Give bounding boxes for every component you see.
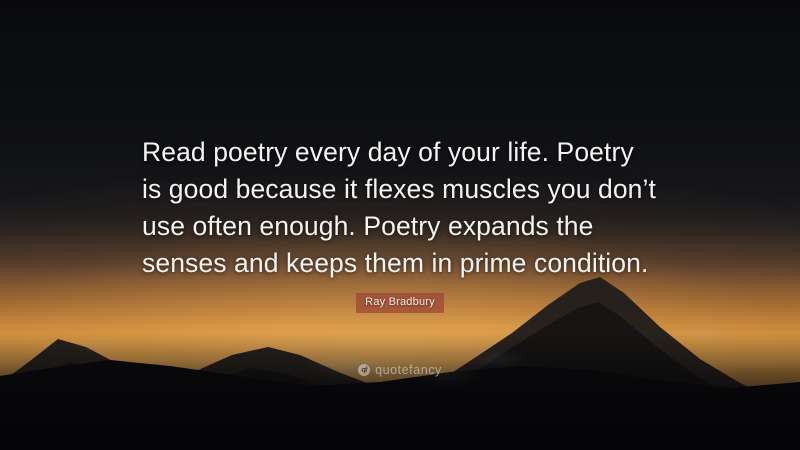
- quote-block: Read poetry every day of your life. Poet…: [142, 134, 660, 282]
- wallpaper-content: Read poetry every day of your life. Poet…: [0, 0, 800, 450]
- quote-text: Read poetry every day of your life. Poet…: [142, 134, 660, 282]
- author-name-badge: Ray Bradbury: [356, 293, 444, 313]
- watermark: qf quotefancy: [0, 363, 800, 377]
- author-attribution: Ray Bradbury: [0, 292, 800, 313]
- watermark-brand-text: quotefancy: [375, 363, 442, 377]
- quotefancy-logo-icon: qf: [358, 364, 370, 376]
- quote-wallpaper: Read poetry every day of your life. Poet…: [0, 0, 800, 450]
- quotefancy-logo-glyph: qf: [361, 367, 367, 374]
